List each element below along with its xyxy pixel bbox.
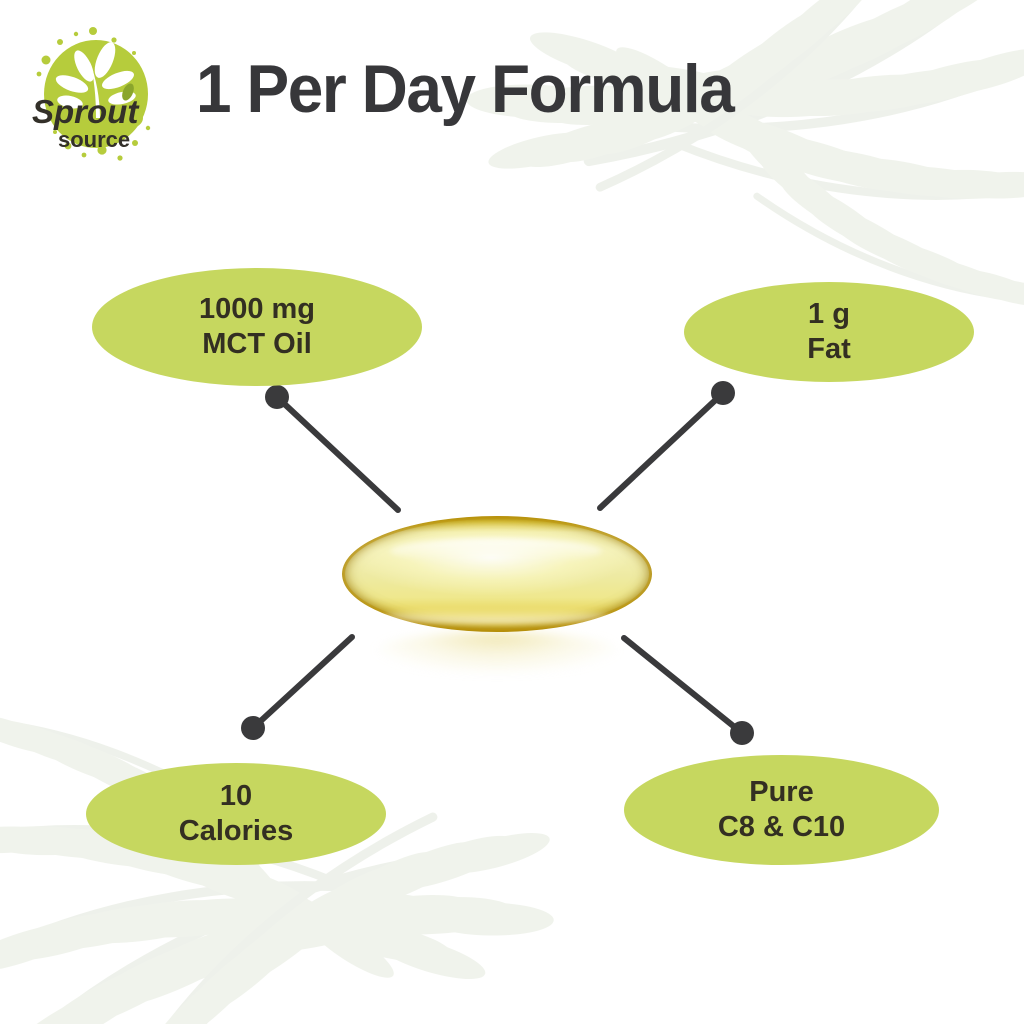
callout-mct-oil[interactable]: 1000 mg MCT Oil [92, 268, 422, 386]
callout-fat-line2: Fat [807, 332, 851, 367]
callout-mct-oil-line1: 1000 mg [199, 292, 315, 327]
callout-calories-line2: Calories [179, 814, 293, 849]
logo-wordmark-primary: Sprout [32, 93, 140, 130]
callout-fat-line1: 1 g [808, 297, 850, 332]
callout-calories-line1: 10 [220, 779, 252, 814]
connector-mct-oil [265, 385, 398, 510]
callout-mct-oil-line2: MCT Oil [202, 327, 312, 362]
callout-purity-line2: C8 & C10 [718, 810, 845, 845]
capsule-reflection [374, 632, 620, 672]
callout-purity[interactable]: Pure C8 & C10 [624, 755, 939, 865]
header: Sprout source 1 Per Day Formula [0, 0, 1024, 190]
connector-fat [600, 381, 735, 508]
softgel-capsule [336, 508, 658, 668]
sprout-source-logo: Sprout source [22, 22, 170, 164]
callout-calories[interactable]: 10 Calories [86, 763, 386, 865]
capsule-lowlight [382, 608, 610, 624]
capsule-highlight [390, 538, 602, 564]
page-title: 1 Per Day Formula [196, 50, 733, 128]
callout-purity-line1: Pure [749, 775, 813, 810]
logo-wordmark-secondary: source [58, 127, 130, 152]
callout-fat[interactable]: 1 g Fat [684, 282, 974, 382]
capsule-body [342, 516, 652, 632]
